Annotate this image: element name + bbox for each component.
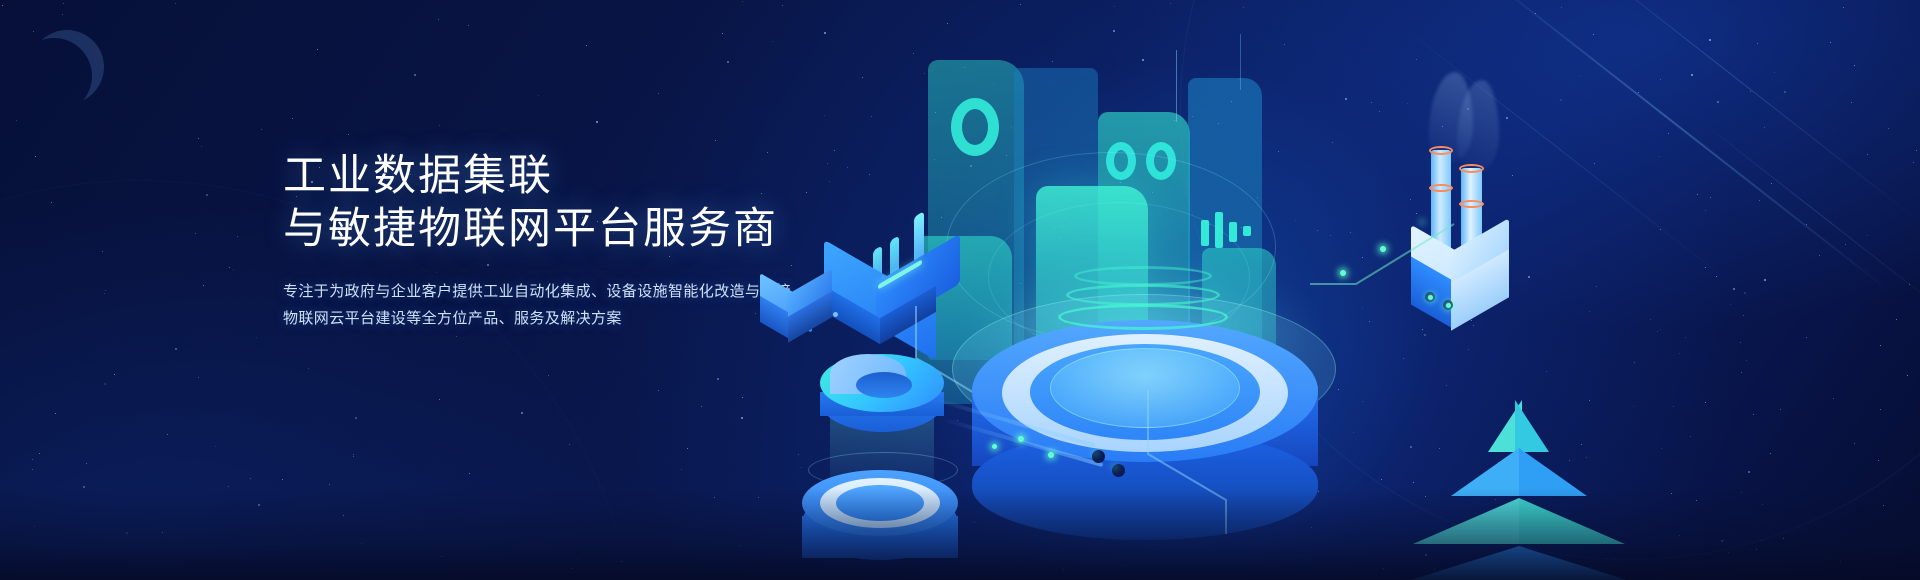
donut-hole (856, 372, 912, 398)
beam-travel-dot-3 (1048, 452, 1054, 458)
small-cube-left (760, 280, 850, 350)
wire-node-right-3 (1340, 270, 1346, 276)
factory-port-led-1 (1428, 295, 1433, 300)
panel-ring-icon-3 (1146, 142, 1176, 180)
platform-beam-ring-2 (1066, 284, 1220, 306)
hero-illustration (760, 0, 1920, 580)
small-disc-core (836, 485, 924, 521)
beam-endpoint-2 (1112, 464, 1125, 477)
central-disc-platform (938, 290, 1350, 540)
pyramid-tier-1 (1373, 546, 1665, 580)
platform-beam-ring-3 (1074, 266, 1212, 286)
panel-antenna-2 (1240, 34, 1241, 90)
panel-bar-chart-icon (1201, 208, 1255, 248)
small-ring-disc (798, 468, 962, 578)
panel-antenna-1 (1176, 50, 1177, 122)
factory-smokestack-unit (1415, 70, 1595, 320)
beam-travel-dot-2 (992, 444, 997, 449)
hero-banner: 工业数据集联 与敏捷物联网平台服务商 专注于为政府与企业客户提供工业自动化集成、… (0, 0, 1920, 580)
panel-ring-icon-2 (1106, 142, 1136, 180)
smokestack-2-rim (1459, 164, 1484, 173)
pyramid-tier-2-sheen (1413, 498, 1519, 544)
smokestack-1-rim (1429, 146, 1453, 155)
tiered-pyramid (1385, 400, 1645, 580)
pyramid-tier-3-sheen (1451, 448, 1519, 496)
smokestack-2-band (1459, 200, 1484, 208)
factory-port-led-2 (1446, 303, 1451, 308)
platform-beam-ring-1 (1058, 304, 1228, 330)
beam-travel-dot-1 (1018, 436, 1024, 442)
crescent-moon-icon (30, 30, 104, 104)
beam-endpoint-1 (1092, 450, 1105, 463)
wire-node-right-2 (1380, 246, 1386, 252)
panel-ring-icon-1 (951, 98, 999, 156)
smokestack-1-band (1429, 184, 1453, 192)
platform-inner-core (1050, 348, 1240, 428)
pyramid-tier-4-right (1515, 400, 1549, 452)
